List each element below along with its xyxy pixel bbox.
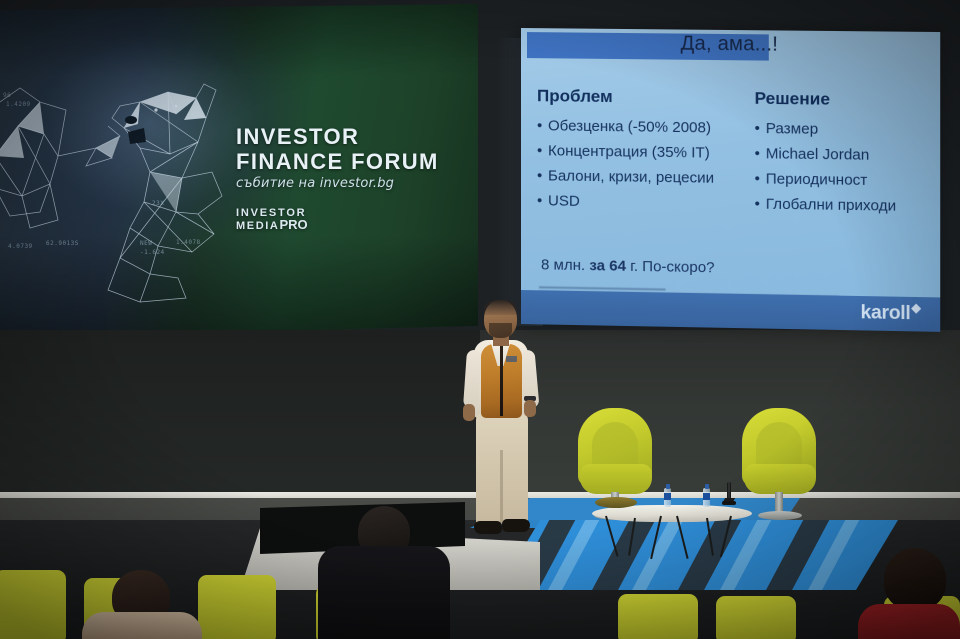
bottle-cap xyxy=(666,484,670,489)
list-item: •Размер xyxy=(755,116,939,144)
list-item: •USD xyxy=(537,188,751,216)
audience-body xyxy=(82,612,202,639)
slide-title: Да, ама...! xyxy=(521,31,940,58)
bottle-label xyxy=(703,493,710,500)
presenter-beard xyxy=(489,323,512,338)
bullet-icon: • xyxy=(537,113,548,138)
ticker-label: 1.4209 xyxy=(6,101,31,108)
ticker-label: 4.0739 xyxy=(8,243,33,250)
media-pro-word: MEDIA xyxy=(236,220,279,232)
bullet-icon: • xyxy=(537,163,548,188)
media-pro-line-1: INVESTOR xyxy=(236,208,451,219)
slide-columns: Проблем •Обезценка (-50% 2008) •Концентр… xyxy=(521,86,940,91)
media-pro-logo: INVESTOR MEDIAPRO xyxy=(236,208,451,232)
karoll-logo-text: karoll xyxy=(861,302,911,324)
projection-wall: 96 1.4209 4.0739 62.9013S NEW -1.624 1.4… xyxy=(0,0,960,340)
presenter-right-hand xyxy=(524,400,536,417)
ticker-label: NEW xyxy=(140,240,152,247)
bullet-icon: • xyxy=(755,166,766,191)
list-item-label: Обезценка (-50% 2008) xyxy=(548,117,711,136)
list-item-label: Периодичност xyxy=(766,170,868,189)
karoll-logo: karoll xyxy=(861,302,920,325)
ticker-label: 23X xyxy=(152,200,164,207)
presenter-left-shoe xyxy=(474,521,502,534)
list-item: •Балони, кризи, рецесии xyxy=(537,163,751,191)
list-item-label: Размер xyxy=(766,120,818,138)
brand-line-1: INVESTOR xyxy=(236,124,451,149)
list-item: •Обезценка (-50% 2008) xyxy=(537,113,751,141)
list-item-label: Концентрация (35% IT) xyxy=(548,142,710,161)
water-bottle-right xyxy=(703,488,710,507)
conference-stage-photo: 96 1.4209 4.0739 62.9013S NEW -1.624 1.4… xyxy=(0,0,960,639)
presenter-hair xyxy=(484,300,517,315)
ticker-label: 62.9013S xyxy=(46,240,79,247)
presenter-right-shoe xyxy=(502,519,530,532)
presenter-vest-pocket xyxy=(506,356,517,362)
audience-head xyxy=(884,548,946,610)
slide-tagline: 8 млн. за 64 г. По-скоро? xyxy=(541,256,715,276)
brand-line-2: FINANCE FORUM xyxy=(236,149,451,174)
audience-seat xyxy=(198,575,276,639)
tray xyxy=(595,497,637,508)
forum-branding: INVESTOR FINANCE FORUM събитие на invest… xyxy=(236,124,451,232)
list-item: •Концентрация (35% IT) xyxy=(537,138,751,166)
media-pro-line-2: MEDIAPRO xyxy=(236,219,451,232)
media-pro-suffix: PRO xyxy=(279,217,307,232)
bullet-icon: • xyxy=(755,116,766,141)
audience-seat xyxy=(0,570,66,639)
diamond-icon xyxy=(911,303,921,313)
tagline-emphasis: за 64 xyxy=(589,257,626,275)
slide-column-solution: Решение •Размер •Michael Jordan •Периоди… xyxy=(755,89,939,220)
ticker-label: 96 xyxy=(3,92,11,99)
list-item: •Глобални приходи xyxy=(755,191,939,219)
bullet-list: •Обезценка (-50% 2008) •Концентрация (35… xyxy=(537,113,751,216)
bottle-cap xyxy=(705,484,709,489)
list-item-label: Глобални приходи xyxy=(766,196,896,215)
presentation-slide: Да, ама...! Проблем •Обезценка (-50% 200… xyxy=(521,28,940,332)
slide-column-problem: Проблем •Обезценка (-50% 2008) •Концентр… xyxy=(537,86,751,216)
wireframe-bull-and-bear-artwork xyxy=(0,6,250,326)
column-heading: Проблем xyxy=(537,86,751,109)
ticker-label: -1.624 xyxy=(140,249,165,256)
microphone-base xyxy=(722,501,736,505)
chair-seat xyxy=(744,464,816,494)
brand-tagline: събитие на investor.bg xyxy=(236,176,451,191)
ticker-label: 1.4078 xyxy=(176,239,201,246)
list-item: •Michael Jordan xyxy=(755,141,939,169)
column-heading: Решение xyxy=(755,89,939,111)
list-item-label: Балони, кризи, рецесии xyxy=(548,167,714,186)
presenter-left-hand xyxy=(463,404,475,421)
bullet-icon: • xyxy=(755,141,766,166)
audience-body xyxy=(318,546,450,639)
bullet-icon: • xyxy=(537,188,548,213)
audience-body xyxy=(858,604,960,639)
chair-seat xyxy=(580,464,652,494)
tagline-pre: 8 млн. xyxy=(541,256,589,274)
tagline-post: г. По-скоро? xyxy=(626,258,715,277)
bullet-icon: • xyxy=(537,138,548,163)
presenter-vest-zip xyxy=(500,346,503,416)
list-item-label: USD xyxy=(548,192,580,209)
presenter-trouser-seam xyxy=(500,450,503,524)
audience-seat xyxy=(716,596,796,639)
bullet-icon: • xyxy=(755,191,766,216)
chair-base xyxy=(758,511,802,520)
list-item-label: Michael Jordan xyxy=(766,145,870,164)
bullet-list: •Размер •Michael Jordan •Периодичност •Г… xyxy=(755,116,939,220)
water-bottle-left xyxy=(664,488,671,507)
bottle-label xyxy=(664,493,671,500)
stage-carpet xyxy=(498,520,898,590)
list-item: •Периодичност xyxy=(755,166,939,194)
audience-seat xyxy=(618,594,698,639)
